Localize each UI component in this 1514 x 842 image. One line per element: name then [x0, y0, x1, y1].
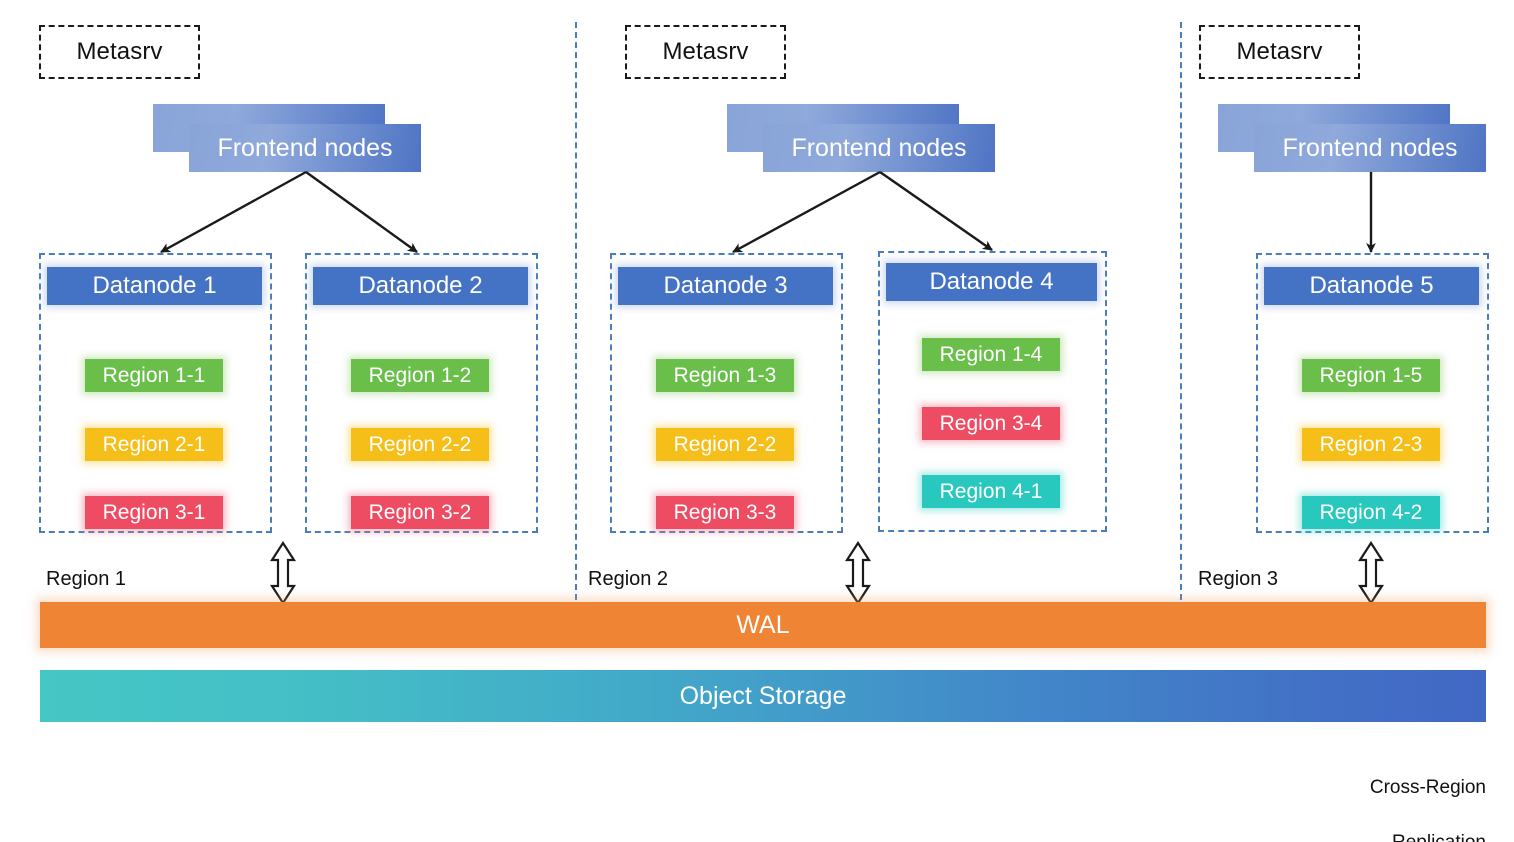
datanode-box-datanode-5: Datanode 5 Region 1-5 Region 2-3 Region …	[1256, 253, 1489, 533]
region-chip: Region 3-1	[85, 496, 223, 529]
wal-label: WAL	[736, 611, 789, 640]
region-chip: Region 1-2	[351, 359, 489, 392]
region-chip-label: Region 4-2	[1320, 501, 1423, 525]
zone-label-region-3: Region 3	[1198, 568, 1278, 591]
datanode-header: Datanode 3	[618, 267, 833, 305]
region-chip: Region 4-1	[922, 475, 1060, 508]
datanode-header: Datanode 5	[1264, 267, 1479, 305]
arrow-frontend-to-datanode-3	[733, 172, 880, 252]
datanode-name: Datanode 1	[92, 272, 216, 300]
datanode-header: Datanode 1	[47, 267, 262, 305]
region-chip: Region 3-4	[922, 407, 1060, 440]
region-chip-label: Region 1-2	[369, 364, 472, 388]
frontend-nodes-zone-2: Frontend nodes	[727, 104, 995, 172]
region-chip-label: Region 2-1	[103, 433, 206, 457]
metasrv-label: Metasrv	[662, 38, 748, 66]
region-chip-label: Region 2-2	[369, 433, 472, 457]
arrow-frontend-to-datanode-2	[306, 172, 417, 252]
frontend-card-front: Frontend nodes	[763, 124, 995, 172]
frontend-nodes-zone-1: Frontend nodes	[153, 104, 421, 172]
zone-label-region-1: Region 1	[46, 568, 126, 591]
datanode-name: Datanode 2	[358, 272, 482, 300]
datanode-name: Datanode 3	[663, 272, 787, 300]
frontend-card-front: Frontend nodes	[189, 124, 421, 172]
frontend-nodes-label: Frontend nodes	[217, 134, 392, 163]
zone-label-region-2: Region 2	[588, 568, 668, 591]
region-chip: Region 1-3	[656, 359, 794, 392]
arrow-frontend-to-datanode-1	[161, 172, 306, 252]
region-chip-label: Region 1-3	[674, 364, 777, 388]
region-chip: Region 3-2	[351, 496, 489, 529]
cross-region-replication-line-1: Cross-Region	[1286, 774, 1486, 802]
metasrv-box-zone-3: Metasrv	[1199, 25, 1360, 79]
datanode-name: Datanode 4	[929, 268, 1053, 296]
region-chip-label: Region 3-4	[940, 412, 1043, 436]
frontend-nodes-zone-3: Frontend nodes	[1218, 104, 1486, 172]
region-chip: Region 1-4	[922, 338, 1060, 371]
zone-divider-2	[1180, 22, 1182, 600]
double-arrow-zone-1-wal	[272, 543, 294, 603]
cross-region-replication-line-2: Replication	[1286, 829, 1486, 842]
datanode-box-datanode-3: Datanode 3 Region 1-3 Region 2-2 Region …	[610, 253, 843, 533]
region-chip-label: Region 2-3	[1320, 433, 1423, 457]
metasrv-label: Metasrv	[76, 38, 162, 66]
wal-bar: WAL	[40, 602, 1486, 648]
region-chip: Region 3-3	[656, 496, 794, 529]
object-storage-bar: Object Storage	[40, 670, 1486, 722]
object-storage-label: Object Storage	[680, 682, 847, 711]
region-chip: Region 2-1	[85, 428, 223, 461]
region-chip: Region 2-2	[351, 428, 489, 461]
region-chip-label: Region 3-1	[103, 501, 206, 525]
frontend-card-front: Frontend nodes	[1254, 124, 1486, 172]
region-chip-label: Region 2-2	[674, 433, 777, 457]
region-chip-label: Region 3-3	[674, 501, 777, 525]
datanode-box-datanode-2: Datanode 2 Region 1-2 Region 2-2 Region …	[305, 253, 538, 533]
frontend-nodes-label: Frontend nodes	[791, 134, 966, 163]
cross-region-replication-note: Cross-Region Replication	[1286, 746, 1486, 842]
region-chip-label: Region 1-5	[1320, 364, 1423, 388]
region-chip: Region 4-2	[1302, 496, 1440, 529]
datanode-name: Datanode 5	[1309, 272, 1433, 300]
metasrv-box-zone-1: Metasrv	[39, 25, 200, 79]
arrow-frontend-to-datanode-4	[880, 172, 992, 250]
region-chip: Region 1-1	[85, 359, 223, 392]
diagram-canvas: Metasrv Frontend nodes Datanode 1 Region…	[0, 0, 1514, 842]
datanode-box-datanode-1: Datanode 1 Region 1-1 Region 2-1 Region …	[39, 253, 272, 533]
datanode-header: Datanode 4	[886, 263, 1097, 301]
region-chip: Region 2-3	[1302, 428, 1440, 461]
datanode-header: Datanode 2	[313, 267, 528, 305]
datanode-box-datanode-4: Datanode 4 Region 1-4 Region 3-4 Region …	[878, 251, 1107, 532]
metasrv-box-zone-2: Metasrv	[625, 25, 786, 79]
double-arrow-zone-3-wal	[1360, 543, 1382, 603]
frontend-nodes-label: Frontend nodes	[1282, 134, 1457, 163]
metasrv-label: Metasrv	[1236, 38, 1322, 66]
zone-divider-1	[575, 22, 577, 600]
region-chip-label: Region 1-1	[103, 364, 206, 388]
region-chip-label: Region 4-1	[940, 480, 1043, 504]
region-chip-label: Region 3-2	[369, 501, 472, 525]
double-arrow-zone-2-wal	[847, 543, 869, 603]
region-chip: Region 2-2	[656, 428, 794, 461]
region-chip-label: Region 1-4	[940, 343, 1043, 367]
region-chip: Region 1-5	[1302, 359, 1440, 392]
